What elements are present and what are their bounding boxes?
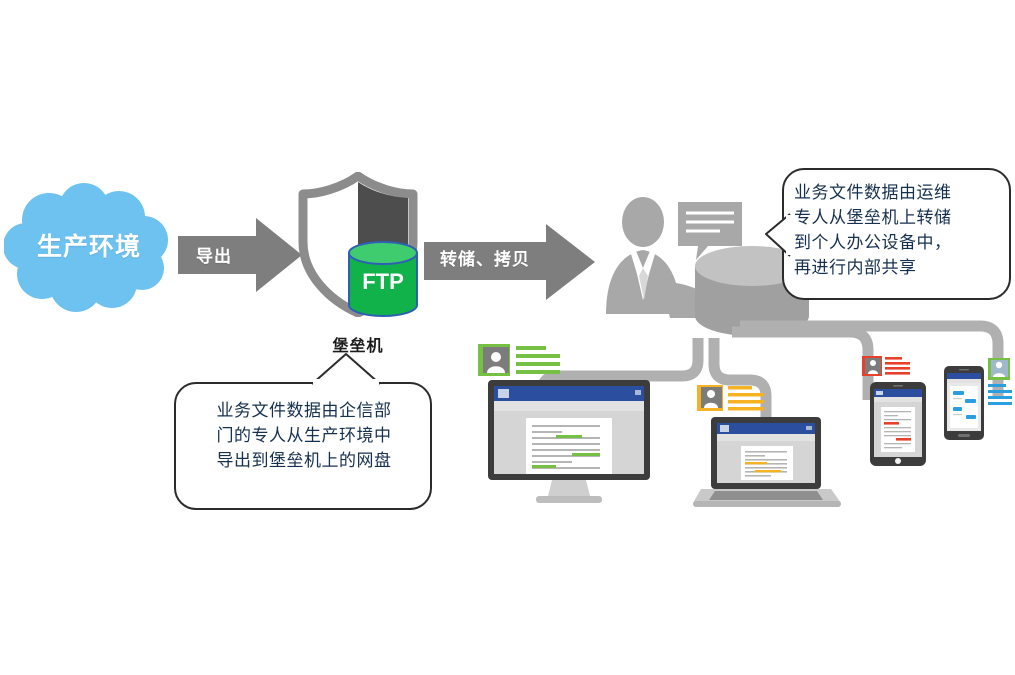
desktop-device — [470, 342, 660, 507]
desktop-monitor-icon — [470, 342, 660, 507]
callout-left-tail-icon — [310, 352, 382, 386]
cloud-label: 生产环境 — [4, 232, 174, 262]
production-environment-cloud: 生产环境 — [4, 182, 174, 312]
contact-card-yellow — [697, 385, 764, 411]
ftp-database-icon: FTP — [344, 240, 422, 320]
tablet-icon — [862, 356, 934, 468]
diagram-canvas: 生产环境 导出 FTP 堡垒机 — [0, 0, 1015, 675]
tablet-device — [862, 356, 934, 468]
contact-card-red — [862, 356, 910, 376]
callout-left-text: 业务文件数据由企信部 门的专人从生产环境中 导出到堡垒机上的网盘 — [186, 398, 422, 473]
smartphone-device — [944, 358, 1012, 448]
export-arrow-label: 导出 — [196, 242, 232, 267]
bastion-host-shield: FTP — [291, 172, 426, 317]
callout-right-tail-icon — [764, 212, 792, 258]
contact-card-green — [478, 344, 560, 376]
ftp-label: FTP — [362, 269, 404, 294]
transfer-copy-arrow-label: 转储、拷贝 — [440, 245, 530, 270]
laptop-icon — [693, 385, 845, 510]
contact-card-blue — [988, 358, 1012, 405]
smartphone-icon — [944, 358, 1012, 448]
callout-right-text: 业务文件数据由运维 专人从堡垒机上转储 到个人办公设备中， 再进行内部共享 — [794, 180, 1002, 280]
laptop-device — [693, 385, 845, 510]
